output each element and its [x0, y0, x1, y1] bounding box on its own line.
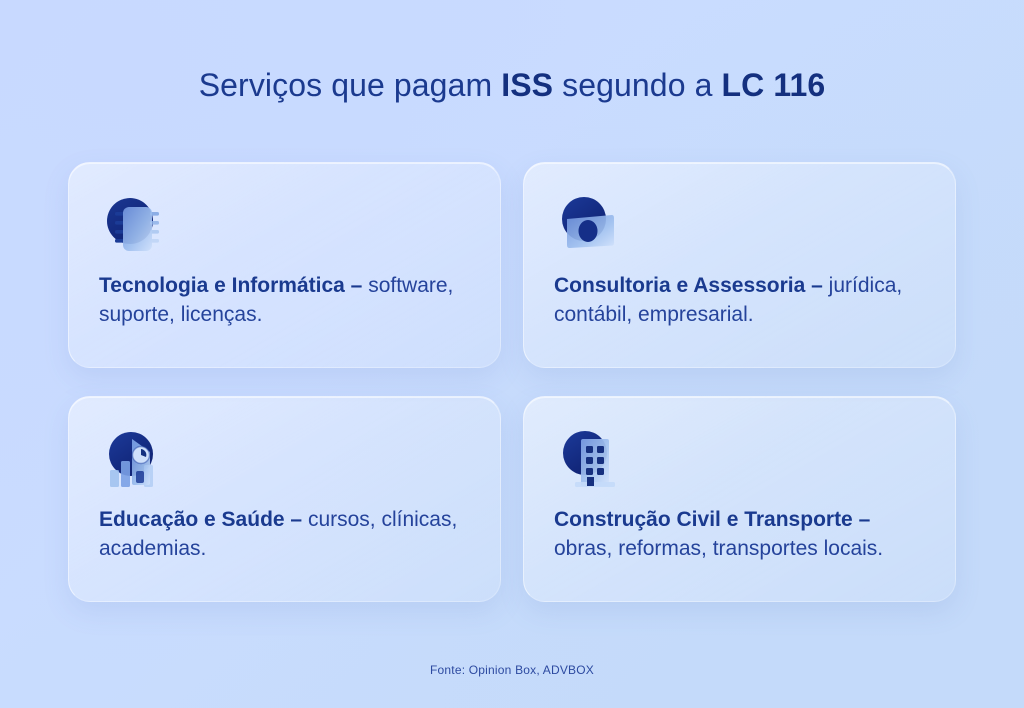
title-part-2: segundo a: [553, 67, 721, 103]
consultant-badge-icon: [554, 193, 630, 261]
microchip-icon: [99, 193, 175, 261]
title-part-1: ISS: [501, 67, 553, 103]
page-title-text: Serviços que pagam ISS segundo a LC 116: [0, 64, 1024, 106]
service-card-text: Construção Civil e Transporte – obras, r…: [554, 505, 927, 577]
service-card-lead: Educação e Saúde –: [99, 508, 308, 531]
page-title: Serviços que pagam ISS segundo a LC 116: [0, 64, 1024, 106]
service-card-text: Consultoria e Assessoria – jurídica, con…: [554, 271, 927, 353]
service-card-construcao: Construção Civil e Transporte – obras, r…: [523, 396, 956, 602]
service-card-consultoria: Consultoria e Assessoria – jurídica, con…: [523, 162, 956, 368]
source-footer: Fonte: Opinion Box, ADVBOX: [0, 662, 1024, 678]
title-part-0: Serviços que pagam: [199, 67, 502, 103]
service-card-grid: Tecnologia e Informática – software, sup…: [68, 162, 956, 602]
service-card-tecnologia: Tecnologia e Informática – software, sup…: [68, 162, 501, 368]
infographic-page: Serviços que pagam ISS segundo a LC 116: [0, 0, 1024, 708]
title-part-3: LC 116: [721, 67, 825, 103]
service-card-lead: Construção Civil e Transporte –: [554, 508, 870, 531]
office-building-icon: [554, 427, 630, 495]
service-card-lead: Consultoria e Assessoria –: [554, 274, 829, 297]
service-card-lead: Tecnologia e Informática –: [99, 274, 368, 297]
service-card-educacao: Educação e Saúde – cursos, clínicas, aca…: [68, 396, 501, 602]
service-card-text: Tecnologia e Informática – software, sup…: [99, 271, 472, 353]
service-card-rest: obras, reformas, transportes locais.: [554, 537, 883, 560]
service-card-text: Educação e Saúde – cursos, clínicas, aca…: [99, 505, 472, 577]
school-clock-icon: [99, 427, 175, 495]
